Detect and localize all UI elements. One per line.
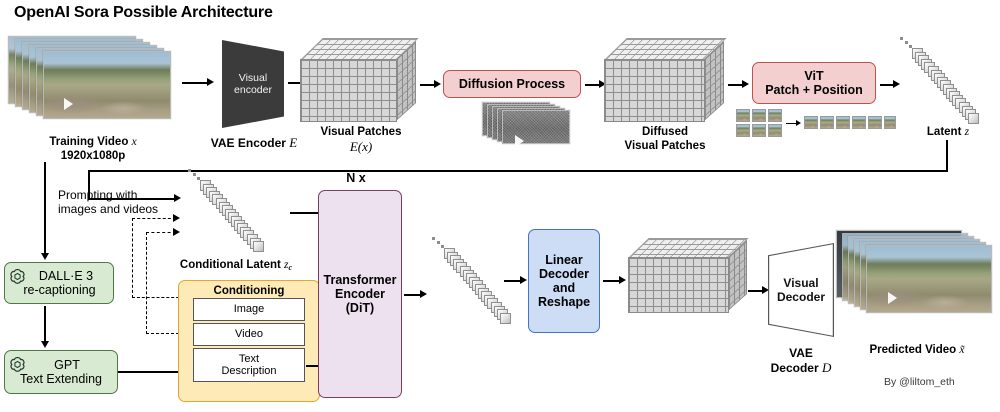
transformer-line2: Encoder [324,287,397,301]
linear-decoder-box[interactable]: Linear Decoder and Reshape [528,229,600,333]
play-icon [515,135,524,147]
arrowhead [41,341,49,348]
dashed-image-to-latent-h [132,297,184,298]
arrow-video-to-dalle [44,162,46,256]
vae-decoder-line1: Visual [777,276,825,290]
conditional-latent-caption-sub: c [289,263,293,272]
conditioning-row-image-label: Image [234,303,265,316]
transformer-line3: (DiT) [324,301,397,315]
prompting-note: Prompting with images and videos [58,188,198,216]
dashed-image-to-latent-top [132,218,176,219]
vae-encoder-block: Visual encoder [222,40,284,128]
conditioning-row-video-label: Video [235,328,263,341]
latent-z-caption: Latent z [900,126,996,139]
vae-decoder-caption-text: Decoder [771,361,819,375]
latent-z-strip [896,40,996,130]
vae-encoder-caption: VAE Encoder E [204,136,304,150]
output-latent-strip [428,240,524,330]
dashed-video-to-latent-v [146,232,147,334]
vae-decoder-line2: Decoder [777,290,825,304]
latent-ellipsis-dot [437,241,440,244]
byline: By @liltom_eth [884,376,955,388]
training-video-caption: Training Video x [8,136,178,149]
latent-ellipsis-dot [193,173,196,176]
conditioning-row-text-label1: Text [239,353,259,366]
arrow-video-to-encoder [182,82,208,84]
gpt-line2: Text Extending [20,372,102,386]
predicted-video-stack [836,230,998,338]
vit-box[interactable]: ViT Patch + Position [752,62,876,104]
patch-flatten-illustration [736,109,886,141]
play-icon [64,98,73,110]
diffused-patches-caption-2: Visual Patches [600,140,730,153]
arrow-dalle-to-gpt [44,306,46,344]
visual-patches-caption-math: E(x) [298,140,424,153]
linear-decoder-line4: Reshape [538,295,590,309]
page-title: OpenAI Sora Possible Architecture [14,4,273,22]
vae-decoder-caption-2: Decoder D [754,361,848,375]
vit-label-line2: Patch + Position [765,83,863,97]
vae-encoder-line1: Visual [234,72,272,85]
vae-encoder-line2: encoder [234,84,272,97]
arrowhead [207,78,214,86]
latent-token-cell [500,313,511,324]
latent-token-cell [253,241,264,252]
diagram-canvas: OpenAI Sora Possible Architecture Traini… [0,0,1000,412]
conditional-latent-caption-text: Conditional Latent [180,259,281,271]
training-video-resolution: 1920x1080p [8,150,178,163]
conditional-latent-caption: Conditional Latent zc [166,259,306,274]
vae-decoder-caption-1: VAE [758,347,844,360]
training-video-caption-math: x [132,136,137,148]
conditioning-title: Conditioning [179,284,319,298]
diffused-patches-cube [604,38,732,138]
latent-z-caption-text: Latent [927,126,962,138]
vae-decoder-caption-math: D [822,360,831,375]
diffusion-process-box[interactable]: Diffusion Process [443,70,581,98]
openai-logo-icon [8,355,27,374]
conditional-latent-strip [186,174,282,258]
conditioning-row-text-label2: Description [221,365,276,378]
predicted-video-caption-math: x̃ [959,344,964,356]
vae-decoder-block: Visual Decoder [769,244,833,336]
latent-ellipsis-dot [188,169,191,172]
conditioning-row-text[interactable]: Text Description [193,348,305,382]
latent-token-cell [968,113,979,124]
vit-label-line1: ViT [765,69,863,83]
gpt-line1: GPT [32,358,102,372]
visual-patches-cube [300,38,424,138]
linear-decoder-line3: and [538,281,590,295]
latent-feedback-horizontal [88,170,948,172]
transformer-repeat-label: N x [316,172,396,185]
training-video-stack [8,36,178,131]
arrow-gpt-to-text-description [118,371,180,373]
transformer-encoder-box[interactable]: Transformer Encoder (DiT) [318,190,402,398]
latent-ellipsis-dot [432,237,435,240]
linear-decoder-line1: Linear [538,253,590,267]
arrowhead [173,214,180,222]
conditioning-row-video[interactable]: Video [193,323,305,346]
visual-patches-caption: Visual Patches [298,126,424,139]
vae-encoder-caption-text: VAE Encoder [211,136,286,150]
latent-z-caption-math: z [965,126,969,138]
latent-ellipsis-dot [900,37,903,40]
arrowhead [762,286,769,294]
arrowhead [420,290,427,298]
prompting-note-line1: Prompting with [58,188,198,202]
dalle3-line2: re-captioning [23,283,95,297]
latent-feedback-vertical-right [946,140,948,172]
arrowhead [520,276,527,284]
arrowhead [173,228,180,236]
conditioning-row-image[interactable]: Image [193,298,305,321]
arrowhead [619,276,626,284]
latent-ellipsis-dot [905,41,908,44]
output-patches-cube [628,238,754,328]
predicted-video-caption: Predicted Video x̃ [836,344,998,357]
linear-decoder-line2: Decoder [538,267,590,281]
training-video-caption-text: Training Video [49,136,128,148]
arrowhead [41,253,49,260]
arrowhead [434,80,441,88]
dashed-video-to-latent-top [146,232,176,233]
vae-encoder-caption-math: E [289,135,297,150]
predicted-video-caption-text: Predicted Video [869,344,956,356]
play-icon [888,292,897,304]
diffused-patches-caption-1: Diffused [600,126,730,139]
arrowhead [742,80,749,88]
transformer-line1: Transformer [324,273,397,287]
noisy-frames-stack [482,102,588,148]
openai-logo-icon [8,267,27,286]
dashed-image-to-latent-v [132,218,133,298]
diffusion-process-label: Diffusion Process [459,77,565,91]
dalle3-line1: DALL·E 3 [36,269,95,283]
